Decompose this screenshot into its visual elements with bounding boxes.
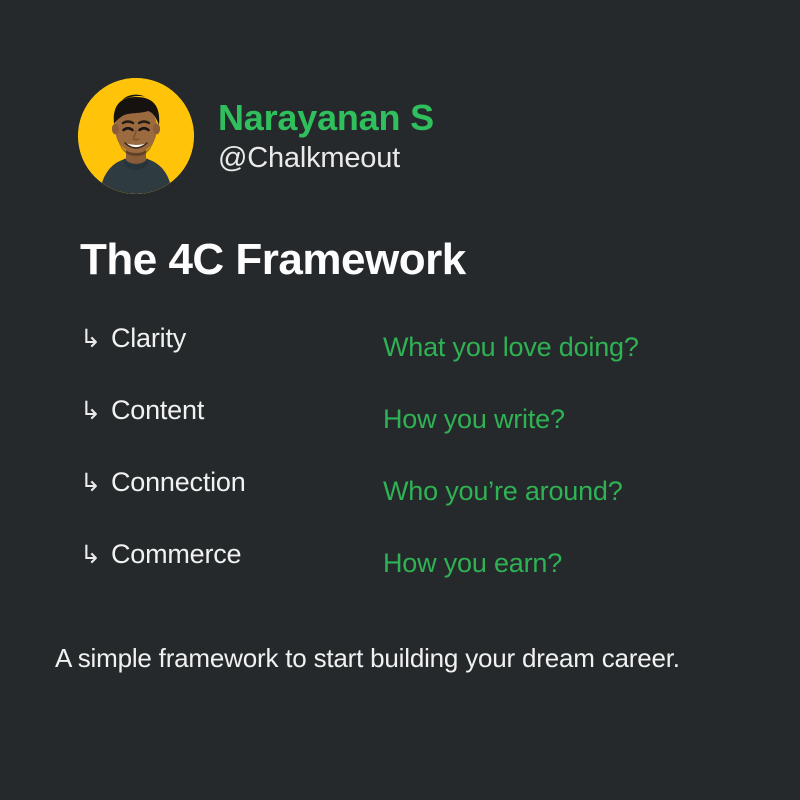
profile-text: Narayanan S @Chalkmeout (218, 98, 434, 175)
list-item-label: Content (111, 397, 204, 424)
list-item-label: Clarity (111, 325, 186, 352)
avatar[interactable] (78, 78, 194, 194)
user-photo-avatar-icon (78, 78, 194, 194)
profile-header: Narayanan S @Chalkmeout (78, 78, 434, 194)
social-post-card: Narayanan S @Chalkmeout The 4C Framework… (0, 0, 800, 800)
list-item-label: Connection (111, 469, 246, 496)
list-item-question: How you write? (383, 406, 565, 433)
framework-list: ↳ Clarity What you love doing? ↳ Content… (80, 325, 720, 613)
list-item-left: ↳ Commerce (80, 541, 241, 568)
page-title: The 4C Framework (80, 235, 466, 286)
list-item-left: ↳ Clarity (80, 325, 186, 352)
list-item-question: Who you’re around? (383, 478, 623, 505)
list-item-left: ↳ Connection (80, 469, 246, 496)
list-item-question: How you earn? (383, 550, 562, 577)
arrow-down-right-icon: ↳ (80, 542, 101, 567)
arrow-down-right-icon: ↳ (80, 326, 101, 351)
list-item-label: Commerce (111, 541, 241, 568)
list-item: ↳ Content How you write? (80, 397, 720, 469)
footer-caption: A simple framework to start building you… (55, 645, 680, 671)
list-item: ↳ Clarity What you love doing? (80, 325, 720, 397)
arrow-down-right-icon: ↳ (80, 398, 101, 423)
list-item-left: ↳ Content (80, 397, 204, 424)
profile-handle: @Chalkmeout (218, 141, 434, 176)
list-item: ↳ Connection Who you’re around? (80, 469, 720, 541)
list-item-question: What you love doing? (383, 334, 639, 361)
profile-name: Narayanan S (218, 98, 434, 138)
list-item: ↳ Commerce How you earn? (80, 541, 720, 613)
arrow-down-right-icon: ↳ (80, 470, 101, 495)
